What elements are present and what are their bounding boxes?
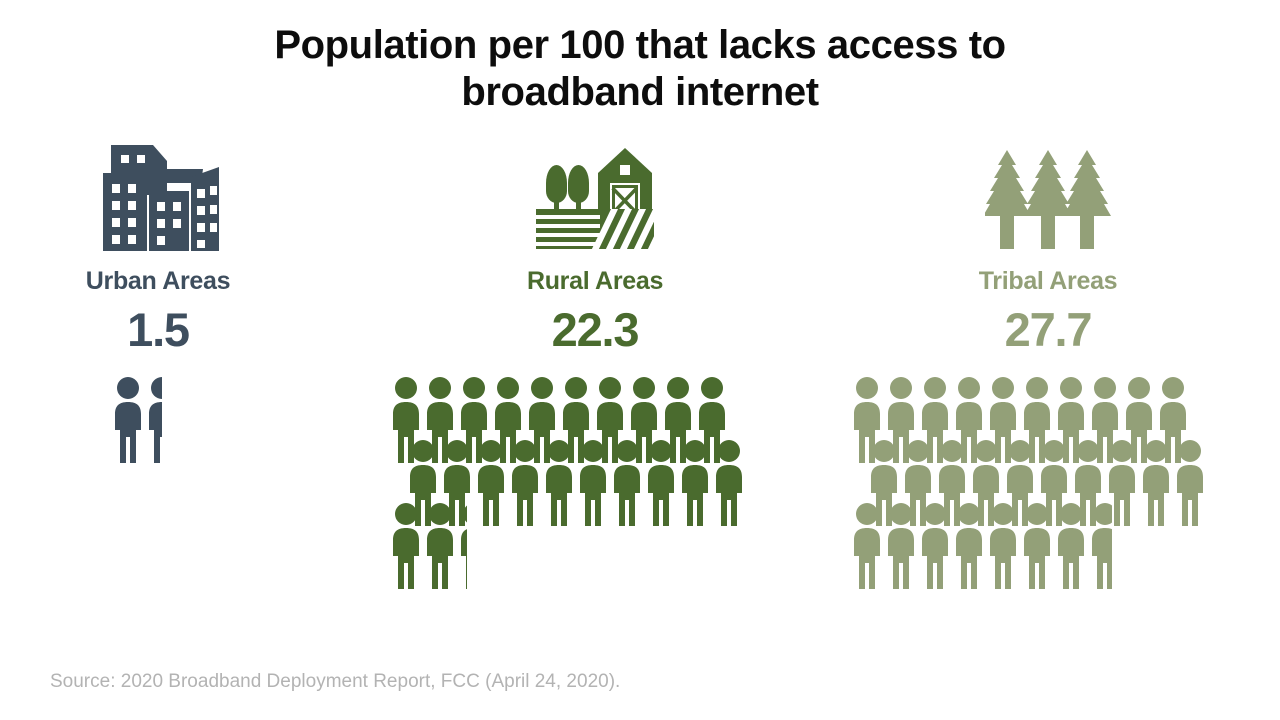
pictogram-person (1173, 438, 1207, 526)
pictogram-person (576, 438, 610, 526)
infographic-canvas: Population per 100 that lacks access to … (0, 0, 1280, 720)
pine-trees-icon (838, 136, 1258, 251)
category-label-rural: Rural Areas (385, 269, 805, 294)
pictogram-person (111, 375, 145, 463)
city-buildings-icon (0, 136, 368, 251)
category-columns: Urban Areas 1.5 (0, 136, 1280, 636)
category-value-rural: 22.3 (385, 306, 805, 353)
pictogram-row (111, 375, 162, 463)
pictogram-person (389, 501, 423, 589)
pictogram-person (1139, 438, 1173, 526)
pictogram-person (474, 438, 508, 526)
category-column-rural: Rural Areas 22.3 (385, 136, 805, 636)
pictogram-person-partial (145, 375, 162, 463)
category-label-tribal: Tribal Areas (838, 269, 1258, 294)
category-value-urban: 1.5 (0, 306, 368, 353)
category-column-urban: Urban Areas 1.5 (0, 136, 368, 636)
pictogram-person (884, 501, 918, 589)
pictogram-person (678, 438, 712, 526)
pictogram-person (1054, 501, 1088, 589)
pictogram-person (712, 438, 746, 526)
pictogram-person (1020, 501, 1054, 589)
pictogram-person-partial (457, 501, 467, 589)
category-label-urban: Urban Areas (0, 269, 368, 294)
pictogram-row (389, 501, 467, 589)
pictogram-person (610, 438, 644, 526)
pictogram-person (918, 501, 952, 589)
pictogram-group-urban (0, 375, 368, 590)
category-column-tribal: Tribal Areas 27.7 (838, 136, 1258, 636)
pictogram-group-rural (385, 375, 805, 590)
page-title: Population per 100 that lacks access to … (0, 22, 1280, 116)
pictogram-row (850, 501, 1112, 589)
pictogram-group-tribal (838, 375, 1258, 590)
farm-barn-icon (385, 136, 805, 251)
source-note: Source: 2020 Broadband Deployment Report… (50, 671, 620, 693)
pictogram-person (986, 501, 1020, 589)
pictogram-person (850, 501, 884, 589)
pictogram-person-partial (1088, 501, 1112, 589)
pictogram-person (542, 438, 576, 526)
page-title-line-2: broadband internet (0, 69, 1280, 116)
pictogram-person (423, 501, 457, 589)
category-value-tribal: 27.7 (838, 306, 1258, 353)
page-title-line-1: Population per 100 that lacks access to (0, 22, 1280, 69)
pictogram-person (644, 438, 678, 526)
pictogram-person (508, 438, 542, 526)
pictogram-person (952, 501, 986, 589)
